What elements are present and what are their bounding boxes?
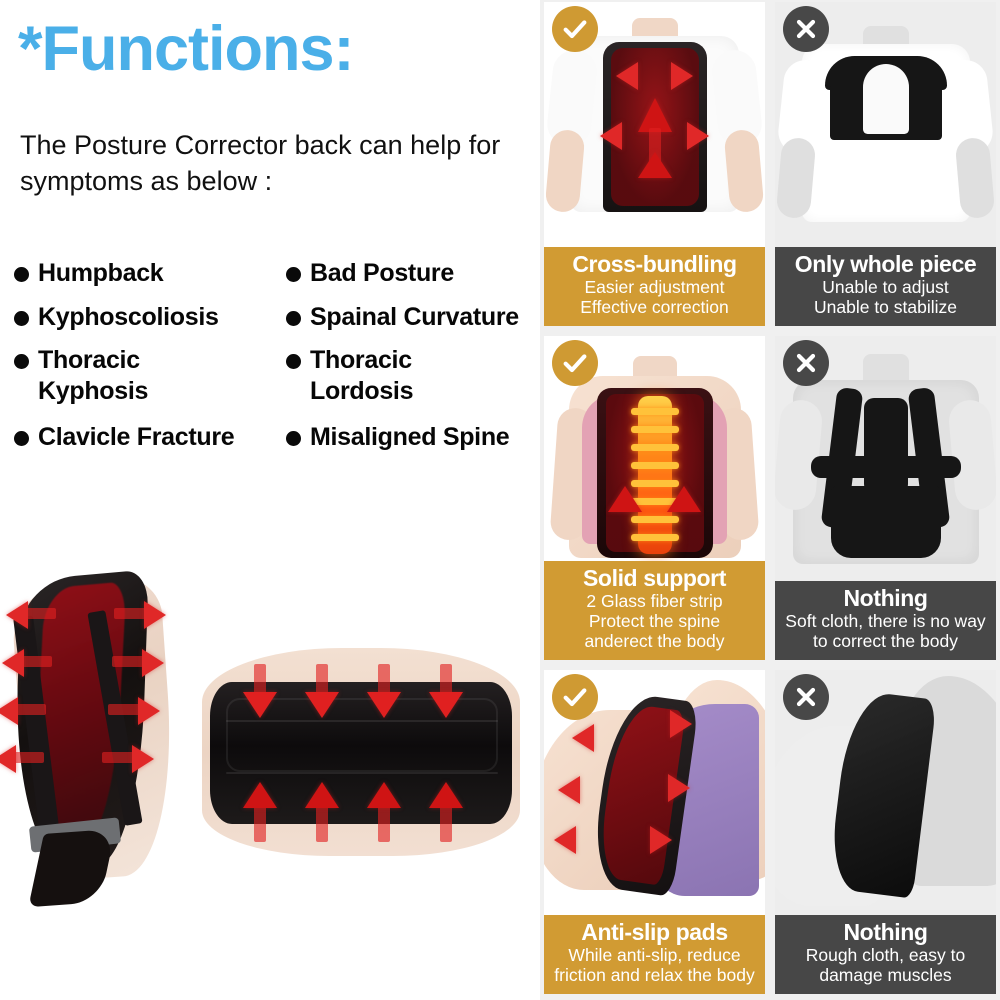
caption-good: Cross-bundling Easier adjustment Effecti… [544, 247, 765, 326]
check-badge [552, 6, 598, 52]
nothing-rough-cloth-photo [775, 670, 996, 915]
force-arrow-icon [638, 98, 672, 132]
compression-arrow-icon [305, 692, 339, 718]
symptom-entry: Misaligned Spine [286, 422, 542, 453]
bullet-dot-icon [14, 267, 29, 282]
caption-subtitle: Soft cloth, there is no way to correct t… [781, 612, 990, 652]
force-arrow-icon [638, 152, 672, 178]
bullet-dot-icon [14, 431, 29, 446]
pressure-arrow-icon [6, 601, 28, 629]
symptom-entry: Thoracic Kyphosis [14, 345, 286, 406]
x-badge [783, 340, 829, 386]
grip-arrow-icon [572, 724, 594, 752]
x-icon [792, 683, 820, 711]
symptom-entry: Clavicle Fracture [14, 422, 286, 453]
caption-subtitle: While anti-slip, reduce friction and rel… [550, 946, 759, 986]
symptom-entry: Bad Posture [286, 258, 542, 289]
grip-arrow-icon [558, 776, 580, 804]
force-arrow-icon [608, 486, 642, 512]
list-item: Thoracic Kyphosis Thoracic Lordosis [14, 345, 542, 406]
list-item: Humpback Bad Posture [14, 258, 542, 289]
caption-subtitle: Easier adjustment Effective correction [550, 278, 759, 318]
only-whole-piece-photo [775, 2, 996, 247]
comparison-panel-bad: Nothing Rough cloth, easy to damage musc… [775, 670, 996, 994]
symptom-label: Kyphoscoliosis [38, 302, 219, 333]
bullet-dot-icon [286, 311, 301, 326]
pressure-arrow-icon [132, 745, 154, 773]
force-arrow-icon [671, 62, 693, 90]
symptom-label: Bad Posture [310, 258, 454, 289]
caption-bad: Nothing Rough cloth, easy to damage musc… [775, 915, 996, 994]
check-badge [552, 674, 598, 720]
compression-arrow-icon [243, 782, 277, 808]
symptom-entry: Kyphoscoliosis [14, 302, 286, 333]
caption-bad: Only whole piece Unable to adjust Unable… [775, 247, 996, 326]
caption-title: Anti-slip pads [550, 920, 759, 945]
comparison-panel-good: Anti-slip pads While anti-slip, reduce f… [544, 670, 765, 994]
symptom-label: Spainal Curvature [310, 302, 519, 333]
left-information-column: *Functions: The Posture Corrector back c… [0, 0, 540, 1000]
bullet-dot-icon [286, 431, 301, 446]
caption-subtitle: Unable to adjust Unable to stabilize [781, 278, 990, 318]
comparison-panel-good: Cross-bundling Easier adjustment Effecti… [544, 2, 765, 326]
caption-subtitle: 2 Glass fiber strip Protect the spine an… [550, 592, 759, 652]
compression-arrow-icon [429, 782, 463, 808]
comparison-row: Solid support 2 Glass fiber strip Protec… [540, 336, 1000, 660]
compression-arrow-icon [243, 692, 277, 718]
x-icon [792, 349, 820, 377]
compression-arrow-icon [429, 692, 463, 718]
force-arrow-icon [616, 62, 638, 90]
force-arrow-icon [687, 122, 709, 150]
caption-title: Cross-bundling [550, 252, 759, 277]
symptom-entry: Thoracic Lordosis [286, 345, 542, 406]
side-view-brace-photo [2, 570, 212, 900]
nothing-soft-cloth-photo [775, 336, 996, 581]
pressure-arrow-icon [138, 697, 160, 725]
grip-arrow-icon [670, 710, 692, 738]
list-item: Kyphoscoliosis Spainal Curvature [14, 302, 542, 333]
grip-arrow-icon [668, 774, 690, 802]
grip-arrow-icon [554, 826, 576, 854]
caption-title: Solid support [550, 566, 759, 591]
bullet-dot-icon [14, 354, 29, 369]
symptom-label: Misaligned Spine [310, 422, 509, 453]
pressure-arrow-icon [142, 649, 164, 677]
force-arrow-icon [667, 486, 701, 512]
check-icon [561, 349, 589, 377]
pressure-arrow-icon [144, 601, 166, 629]
caption-title: Nothing [781, 586, 990, 611]
x-badge [783, 674, 829, 720]
compression-arrow-icon [367, 782, 401, 808]
symptom-entry: Humpback [14, 258, 286, 289]
caption-subtitle: Rough cloth, easy to damage muscles [781, 946, 990, 986]
bullet-dot-icon [286, 354, 301, 369]
pressure-arrow-icon [0, 697, 18, 725]
x-badge [783, 6, 829, 52]
check-icon [561, 683, 589, 711]
cross-bundling-photo [544, 2, 765, 247]
check-badge [552, 340, 598, 386]
symptom-label: Thoracic Kyphosis [38, 345, 148, 406]
compression-arrow-icon [367, 692, 401, 718]
caption-title: Only whole piece [781, 252, 990, 277]
pressure-arrow-icon [2, 649, 24, 677]
product-infographic: *Functions: The Posture Corrector back c… [0, 0, 1000, 1000]
comparison-panel-good: Solid support 2 Glass fiber strip Protec… [544, 336, 765, 660]
bullet-dot-icon [14, 311, 29, 326]
bullet-dot-icon [286, 267, 301, 282]
force-arrow-icon [600, 122, 622, 150]
symptom-label: Clavicle Fracture [38, 422, 234, 453]
grip-arrow-icon [650, 826, 672, 854]
caption-good: Solid support 2 Glass fiber strip Protec… [544, 561, 765, 660]
waist-belt-photo [196, 642, 526, 868]
comparison-grid: Cross-bundling Easier adjustment Effecti… [540, 0, 1000, 1000]
comparison-row: Cross-bundling Easier adjustment Effecti… [540, 2, 1000, 326]
caption-good: Anti-slip pads While anti-slip, reduce f… [544, 915, 765, 994]
comparison-panel-bad: Nothing Soft cloth, there is no way to c… [775, 336, 996, 660]
page-title: *Functions: [18, 18, 353, 81]
intro-paragraph: The Posture Corrector back can help for … [20, 128, 540, 199]
compression-arrow-icon [305, 782, 339, 808]
list-item: Clavicle Fracture Misaligned Spine [14, 422, 542, 453]
x-icon [792, 15, 820, 43]
comparison-row: Anti-slip pads While anti-slip, reduce f… [540, 670, 1000, 994]
symptom-entry: Spainal Curvature [286, 302, 542, 333]
symptom-label: Humpback [38, 258, 163, 289]
caption-bad: Nothing Soft cloth, there is no way to c… [775, 581, 996, 660]
product-photo-group [0, 560, 540, 990]
pressure-arrow-icon [0, 745, 16, 773]
symptom-list: Humpback Bad Posture Kyphoscoliosis Spai… [14, 258, 542, 466]
comparison-panel-bad: Only whole piece Unable to adjust Unable… [775, 2, 996, 326]
check-icon [561, 15, 589, 43]
anti-slip-pads-photo [544, 670, 765, 915]
caption-title: Nothing [781, 920, 990, 945]
symptom-label: Thoracic Lordosis [310, 345, 413, 406]
solid-support-photo [544, 336, 765, 561]
